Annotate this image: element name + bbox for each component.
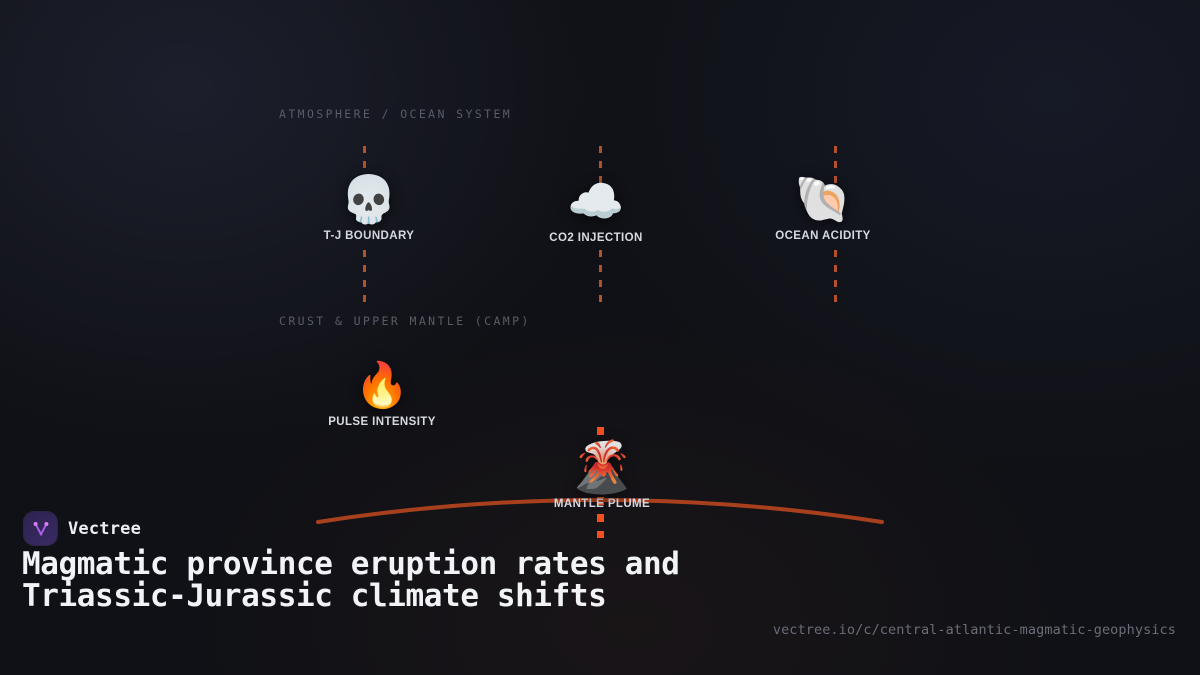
page-title: Magmatic province eruption rates and Tri… (22, 548, 782, 612)
cloud-icon: ☁️ (516, 178, 676, 224)
node-ocean-acidity[interactable]: 🐚 OCEAN ACIDITY (743, 176, 903, 242)
node-tj-boundary[interactable]: 💀 T-J BOUNDARY (289, 176, 449, 242)
band-label-crust: CRUST & UPPER MANTLE (CAMP) (279, 314, 531, 328)
brand-name: Vectree (68, 519, 141, 539)
source-url: vectree.io/c/central-atlantic-magmatic-g… (773, 622, 1176, 638)
node-label-ocean-acidity: OCEAN ACIDITY (743, 230, 903, 242)
diagram-canvas: ATMOSPHERE / OCEAN SYSTEM CRUST & UPPER … (0, 0, 1200, 675)
shell-icon: 🐚 (743, 176, 903, 222)
volcano-icon: 🌋 (522, 442, 682, 492)
brand[interactable]: Vectree (24, 512, 141, 545)
node-label-pulse-intensity: PULSE INTENSITY (302, 416, 462, 428)
node-pulse-intensity[interactable]: 🔥 PULSE INTENSITY (302, 364, 462, 428)
band-label-atmosphere: ATMOSPHERE / OCEAN SYSTEM (279, 107, 512, 121)
skull-icon: 💀 (289, 176, 449, 222)
connector-acidity-bottom (834, 250, 837, 302)
connector-co2-bottom (599, 250, 602, 302)
node-label-tj-boundary: T-J BOUNDARY (289, 230, 449, 242)
node-label-mantle-plume: MANTLE PLUME (522, 498, 682, 510)
fire-icon: 🔥 (302, 364, 462, 408)
connector-tj-bottom (363, 250, 366, 302)
node-mantle-plume[interactable]: 🌋 MANTLE PLUME (522, 442, 682, 510)
node-co2-injection[interactable]: ☁️ CO2 INJECTION (516, 178, 676, 244)
node-label-co2-injection: CO2 INJECTION (516, 232, 676, 244)
vectree-logo-icon (24, 512, 57, 545)
